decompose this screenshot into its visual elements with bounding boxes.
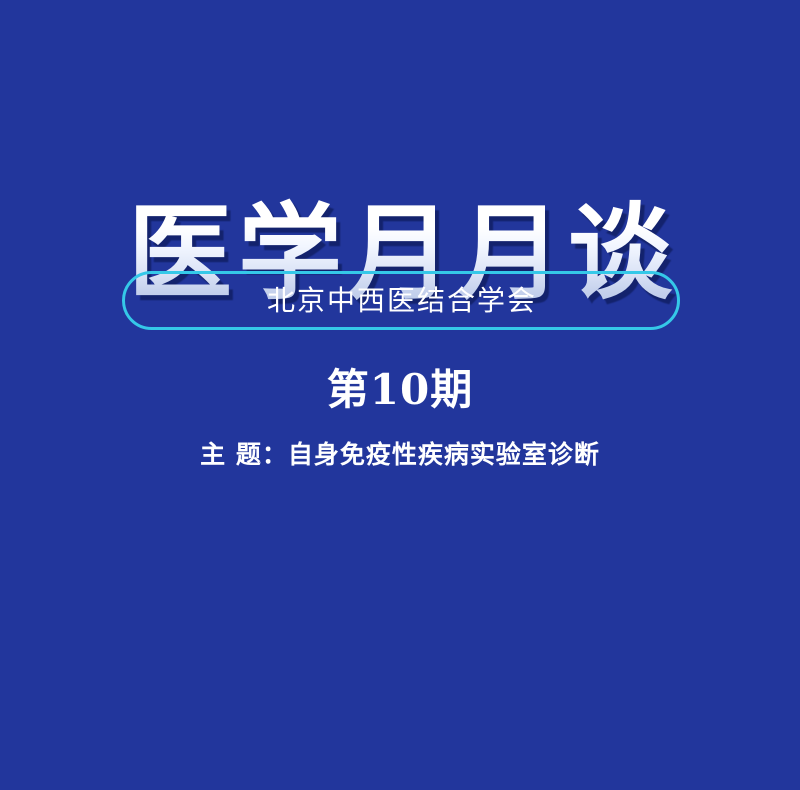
poster-canvas: 医学月月谈 北京中西医结合学会 第10期 主 题：自身免疫性疾病实验室诊断	[0, 0, 800, 790]
organization-pill: 北京中西医结合学会	[122, 271, 680, 330]
title-block: 医学月月谈	[0, 128, 800, 378]
organization-label: 北京中西医结合学会	[265, 287, 537, 315]
lower-empty-area	[0, 500, 800, 790]
topic-line: 主 题：自身免疫性疾病实验室诊断	[0, 440, 800, 470]
episode-number: 第10期	[0, 366, 800, 413]
